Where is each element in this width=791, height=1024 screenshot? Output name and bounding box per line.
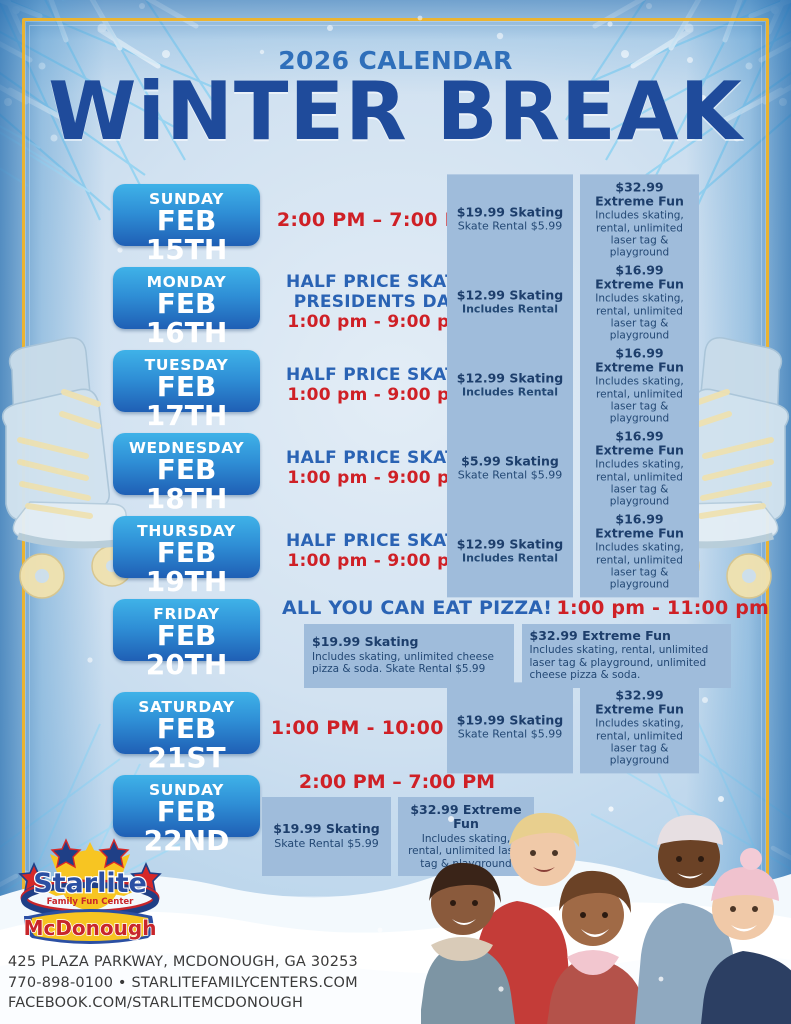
- price-sub: Includes Rental: [455, 387, 565, 400]
- price-title: $19.99 Skating: [455, 713, 565, 727]
- price-sub: Includes skating, rental, unlimited lase…: [588, 210, 691, 260]
- date-label: FEB 18TH: [113, 456, 260, 513]
- price-sub: Includes skating, rental, unlimited lase…: [588, 459, 691, 509]
- date-badge[interactable]: THURSDAY FEB 19TH: [113, 516, 260, 578]
- price-box-extreme-fun[interactable]: $32.99 Extreme Fun Includes skating, ren…: [580, 174, 699, 265]
- date-label: FEB 21ST: [113, 715, 260, 772]
- price-boxes: $19.99 Skating Includes skating, unlimit…: [304, 624, 731, 688]
- price-title: $16.99 Extreme Fun: [588, 263, 691, 292]
- price-box-skating[interactable]: $19.99 Skating Skate Rental $5.99: [447, 174, 573, 265]
- price-box-skating[interactable]: $19.99 Skating Includes skating, unlimit…: [304, 624, 514, 688]
- date-label: FEB 15TH: [113, 207, 260, 264]
- price-box-extreme-fun[interactable]: $16.99 Extreme Fun Includes skating, ren…: [580, 506, 699, 597]
- price-title: $12.99 Skating: [455, 371, 565, 385]
- price-title: $12.99 Skating: [455, 288, 565, 302]
- date-label: FEB 19TH: [113, 539, 260, 596]
- row-headline: HALF PRICE SKATE: [286, 449, 469, 468]
- logo-tagline: Family Fun Center: [47, 897, 135, 907]
- date-badge[interactable]: WEDNESDAY FEB 18TH: [113, 433, 260, 495]
- row-headline: HALF PRICE SKATE PRESIDENTS DAY: [286, 273, 469, 311]
- calendar-row: TUESDAY FEB 17TH HALF PRICE SKATE 1:00 p…: [0, 344, 791, 427]
- price-title: $16.99 Extreme Fun: [588, 429, 691, 458]
- calendar-row: WEDNESDAY FEB 18TH HALF PRICE SKATE 1:00…: [0, 427, 791, 510]
- date-label: FEB 20TH: [113, 622, 260, 679]
- calendar-rows: SUNDAY FEB 15TH 2:00 PM – 7:00 PM $19.99…: [0, 178, 791, 869]
- winter-break-flyer: 2026 CALENDAR WiNTER BREAK SUNDAY FEB 15…: [0, 0, 791, 1024]
- price-box-skating[interactable]: $19.99 Skating Skate Rental $5.99: [447, 682, 573, 773]
- price-title: $5.99 Skating: [455, 454, 565, 468]
- price-boxes: $19.99 Skating Skate Rental $5.99 $32.99…: [447, 682, 699, 773]
- date-badge[interactable]: SUNDAY FEB 22ND: [113, 775, 260, 837]
- logo-city: McDonough: [24, 916, 157, 940]
- date-badge[interactable]: SATURDAY FEB 21ST: [113, 692, 260, 754]
- row-headline: HALF PRICE SKATE: [286, 366, 469, 385]
- price-sub: Skate Rental $5.99: [270, 838, 383, 851]
- price-sub: Includes skating, rental, unlimited lase…: [530, 644, 724, 681]
- price-title: $16.99 Extreme Fun: [588, 512, 691, 541]
- starlite-logo: Starlite Family Fun Center McDonough: [10, 836, 170, 946]
- price-title: $19.99 Skating: [312, 635, 418, 649]
- row-time: 1:00 pm - 11:00 pm: [557, 597, 769, 619]
- price-sub: Includes skating, rental, unlimited lase…: [588, 376, 691, 426]
- calendar-row-friday: FRIDAY FEB 20TH ALL YOU CAN EAT PIZZA! 1…: [0, 593, 791, 686]
- row-time: 1:00 pm - 9:00 pm: [287, 385, 467, 405]
- date-badge[interactable]: TUESDAY FEB 17TH: [113, 350, 260, 412]
- price-title: $32.99 Extreme Fun: [588, 180, 691, 209]
- price-box-extreme-fun[interactable]: $16.99 Extreme Fun Includes skating, ren…: [580, 257, 699, 348]
- price-sub: Includes skating, rental, unlimited lase…: [588, 293, 691, 343]
- logo-name: Starlite: [33, 868, 147, 899]
- price-box-skating[interactable]: $19.99 Skating Skate Rental $5.99: [262, 797, 391, 876]
- price-title: $19.99 Skating: [270, 822, 383, 836]
- footer-address: 425 PLAZA PARKWAY, MCDONOUGH, GA 30253: [8, 952, 358, 973]
- price-box-extreme-fun[interactable]: $32.99 Extreme Fun Includes skating, ren…: [522, 624, 732, 688]
- row-time: 1:00 pm - 9:00 pm: [287, 312, 467, 332]
- date-badge[interactable]: SUNDAY FEB 15TH: [113, 184, 260, 246]
- price-sub: Skate Rental $5.99: [455, 221, 565, 234]
- row-time: 1:00 pm - 9:00 pm: [287, 551, 467, 571]
- price-sub: Skate Rental $5.99: [455, 729, 565, 742]
- price-sub: Includes skating, unlimited cheese pizza…: [312, 651, 506, 676]
- price-boxes: $12.99 Skating Includes Rental $16.99 Ex…: [447, 506, 699, 597]
- friday-headline-row: ALL YOU CAN EAT PIZZA! 1:00 pm - 11:00 p…: [282, 597, 731, 619]
- calendar-row: SATURDAY FEB 21ST 1:00 PM - 10:00 PM $19…: [0, 686, 791, 769]
- price-boxes: $5.99 Skating Skate Rental $5.99 $16.99 …: [447, 423, 699, 514]
- date-badge[interactable]: MONDAY FEB 16TH: [113, 267, 260, 329]
- price-title: $32.99 Extreme Fun: [588, 688, 691, 717]
- row-headline: ALL YOU CAN EAT PIZZA!: [282, 597, 552, 619]
- friday-content: ALL YOU CAN EAT PIZZA! 1:00 pm - 11:00 p…: [282, 597, 731, 688]
- calendar-row: THURSDAY FEB 19TH HALF PRICE SKATE 1:00 …: [0, 510, 791, 593]
- calendar-row: SUNDAY FEB 15TH 2:00 PM – 7:00 PM $19.99…: [0, 178, 791, 261]
- price-box-skating[interactable]: $12.99 Skating Includes Rental: [447, 257, 573, 348]
- footer-facebook[interactable]: FACEBOOK.COM/STARLITEMCDONOUGH: [8, 993, 358, 1014]
- footer-contact: 425 PLAZA PARKWAY, MCDONOUGH, GA 30253 7…: [8, 952, 358, 1014]
- flyer-header: 2026 CALENDAR WiNTER BREAK: [0, 46, 791, 151]
- date-label: FEB 17TH: [113, 373, 260, 430]
- kids-photo: [421, 779, 791, 1024]
- page-title: WiNTER BREAK: [0, 73, 791, 151]
- price-title: $16.99 Extreme Fun: [588, 346, 691, 375]
- price-sub: Includes skating, rental, unlimited lase…: [588, 718, 691, 768]
- price-box-extreme-fun[interactable]: $32.99 Extreme Fun Includes skating, ren…: [580, 682, 699, 773]
- price-sub: Includes Rental: [455, 553, 565, 566]
- price-title: $12.99 Skating: [455, 537, 565, 551]
- calendar-row: MONDAY FEB 16TH HALF PRICE SKATE PRESIDE…: [0, 261, 791, 344]
- price-boxes: $12.99 Skating Includes Rental $16.99 Ex…: [447, 257, 699, 348]
- price-box-extreme-fun[interactable]: $16.99 Extreme Fun Includes skating, ren…: [580, 340, 699, 431]
- row-headline: HALF PRICE SKATE: [286, 532, 469, 551]
- price-title: $32.99 Extreme Fun: [530, 629, 671, 643]
- footer-phone-website[interactable]: 770-898-0100 • STARLITEFAMILYCENTERS.COM: [8, 973, 358, 994]
- price-box-skating[interactable]: $5.99 Skating Skate Rental $5.99: [447, 423, 573, 514]
- row-time: 1:00 pm - 9:00 pm: [287, 468, 467, 488]
- price-sub: Includes Rental: [455, 304, 565, 317]
- price-boxes: $12.99 Skating Includes Rental $16.99 Ex…: [447, 340, 699, 431]
- price-sub: Includes skating, rental, unlimited lase…: [588, 542, 691, 592]
- price-title: $19.99 Skating: [455, 205, 565, 219]
- price-boxes: $19.99 Skating Skate Rental $5.99 $32.99…: [447, 174, 699, 265]
- date-badge[interactable]: FRIDAY FEB 20TH: [113, 599, 260, 661]
- date-label: FEB 16TH: [113, 290, 260, 347]
- price-sub: Skate Rental $5.99: [455, 470, 565, 483]
- price-box-skating[interactable]: $12.99 Skating Includes Rental: [447, 340, 573, 431]
- price-box-skating[interactable]: $12.99 Skating Includes Rental: [447, 506, 573, 597]
- price-box-extreme-fun[interactable]: $16.99 Extreme Fun Includes skating, ren…: [580, 423, 699, 514]
